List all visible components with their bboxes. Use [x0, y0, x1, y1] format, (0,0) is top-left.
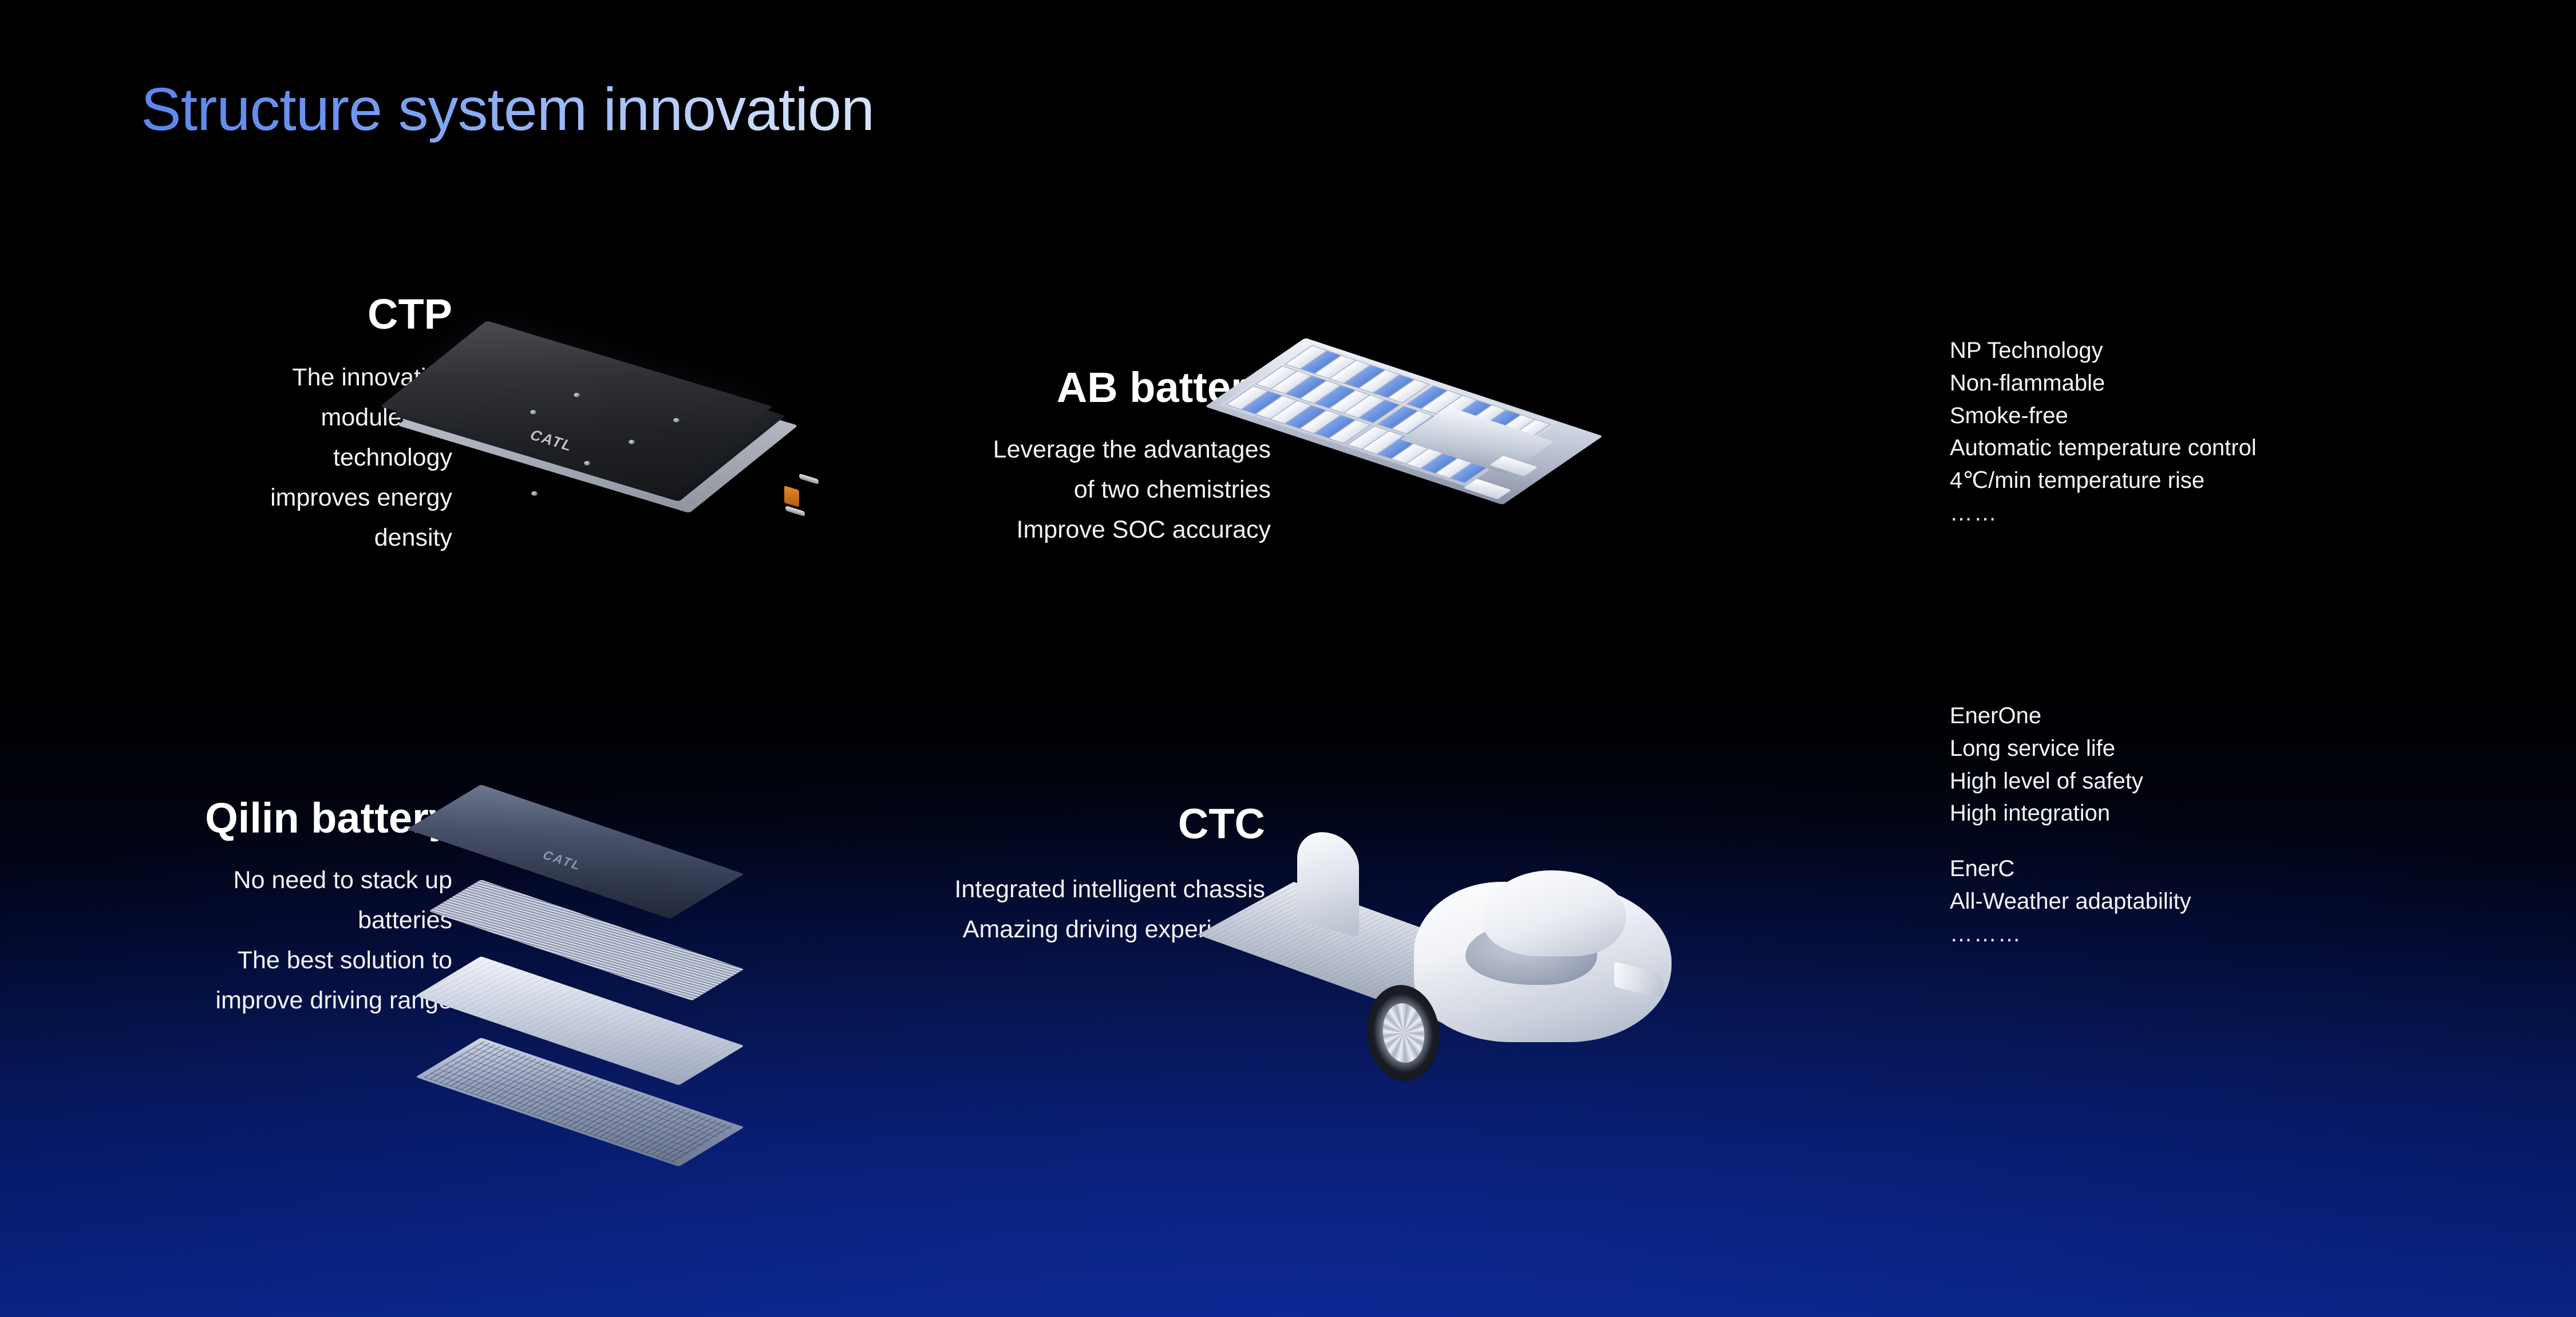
section-ctp-line: density [69, 518, 452, 558]
feature-item-ellipsis: …… [1950, 497, 2257, 530]
section-qilin-description: No need to stack up batteries The best s… [74, 860, 452, 1020]
section-qilin-line: The best solution to [74, 940, 452, 980]
section-qilin-line: improve driving range [74, 980, 452, 1020]
feature-item: High level of safety [1950, 765, 2191, 798]
section-ctc-title: CTC [790, 802, 1265, 846]
section-ctc-line: Amazing driving experience [790, 909, 1265, 949]
section-ab-battery-description: Leverage the advantages of two chemistri… [790, 429, 1271, 550]
ab-battery-pack-image [1305, 321, 1660, 538]
feature-item: All-Weather adaptability [1950, 885, 2191, 918]
section-ctp-line: technology [69, 437, 452, 478]
feature-item: 4℃/min temperature rise [1950, 464, 2257, 497]
section-ctp-title: CTP [69, 292, 452, 337]
feature-list-energy-products: EnerOne Long service life High level of … [1950, 700, 2191, 951]
section-ctc-line: Integrated intelligent chassis [790, 869, 1265, 909]
section-ab-line: Improve SOC accuracy [790, 510, 1271, 550]
feature-list-np-technology: NP Technology Non-flammable Smoke-free A… [1950, 334, 2257, 530]
section-ctp-description: The innovative module-free technology im… [69, 357, 452, 558]
page-title: Structure system innovation [141, 73, 874, 146]
feature-item-ellipsis: ……… [1950, 918, 2191, 951]
qilin-battery-exploded-image: CATL [481, 779, 836, 1122]
section-ctc-description: Integrated intelligent chassis Amazing d… [790, 869, 1265, 949]
feature-item: NP Technology [1950, 334, 2257, 367]
section-ab-line: Leverage the advantages [790, 429, 1271, 470]
feature-item: Smoke-free [1950, 400, 2257, 432]
section-ctp-line: The innovative [69, 357, 452, 397]
ctp-bolt [673, 418, 679, 423]
section-ab-battery: AB battery Leverage the advantages of tw… [790, 365, 1271, 550]
ctp-battery-pack-image: CATL [481, 309, 836, 561]
feature-item-enerc: EnerC [1950, 853, 2191, 885]
ctc-chassis-image [1294, 813, 1694, 1105]
ctp-bolt [531, 491, 538, 496]
feature-item: Non-flammable [1950, 367, 2257, 400]
section-ctc: CTC Integrated intelligent chassis Amazi… [790, 802, 1265, 949]
ctp-bolt [574, 393, 580, 397]
feature-item: Long service life [1950, 732, 2191, 765]
ctp-bolt [629, 440, 635, 444]
list-group-spacer [1950, 830, 2191, 853]
feature-item-enerone: EnerOne [1950, 700, 2191, 732]
ctp-bolt [530, 410, 536, 415]
section-qilin-line: No need to stack up [74, 860, 452, 900]
section-qilin-title: Qilin battery [74, 796, 452, 841]
section-ctp: CTP The innovative module-free technolog… [69, 292, 452, 558]
ctc-rear-pillar [1297, 824, 1359, 938]
section-qilin-battery: Qilin battery No need to stack up batter… [74, 796, 452, 1020]
feature-item: Automatic temperature control [1950, 432, 2257, 464]
section-qilin-line: batteries [74, 900, 452, 940]
ctp-bolt [584, 461, 590, 466]
section-ab-battery-title: AB battery [790, 365, 1271, 410]
section-ab-line: of two chemistries [790, 470, 1271, 510]
ctc-hood [1483, 870, 1626, 956]
section-ctp-line: improves energy [69, 478, 452, 518]
feature-item: High integration [1950, 797, 2191, 830]
slide-canvas: Structure system innovation CTP The inno… [0, 0, 2576, 1317]
